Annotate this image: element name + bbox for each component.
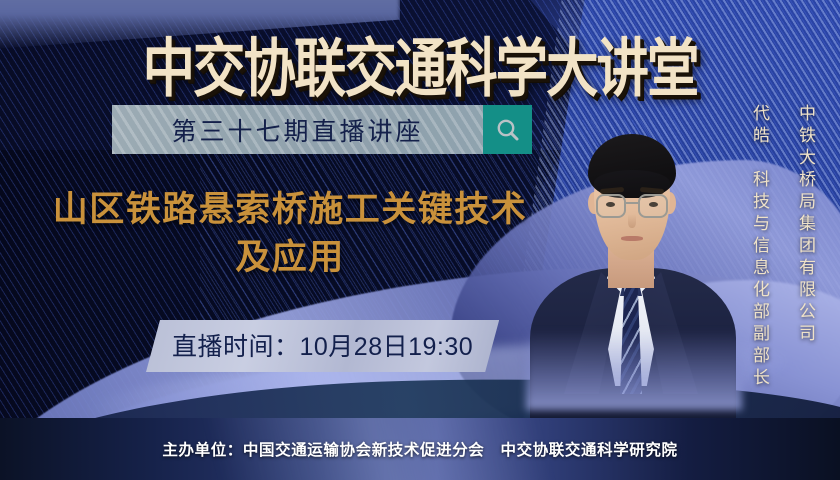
session-band: 第三十七期直播讲座 xyxy=(112,105,532,154)
headline-line-2: 及应用 xyxy=(20,234,560,282)
portrait-glasses-bridge xyxy=(626,202,638,204)
speaker-company: 中铁大桥局集团有限公司 xyxy=(793,104,818,346)
portrait-glasses-left xyxy=(596,194,626,218)
speaker-name-title: 代皓 科技与信息化部副部长 xyxy=(747,104,772,390)
main-title: 中交协联交通科学大讲堂 xyxy=(13,16,828,109)
portrait-bottom-fade xyxy=(526,330,742,410)
session-band-body: 第三十七期直播讲座 xyxy=(112,105,483,154)
footer-organizers: 主办单位：中国交通运输协会新技术促进分会 中交协联交通科学研究院 xyxy=(162,438,677,460)
search-icon[interactable] xyxy=(483,105,532,154)
lecture-headline: 山区铁路悬索桥施工关键技术 及应用 xyxy=(20,186,560,283)
footer-bar: 主办单位：中国交通运输协会新技术促进分会 中交协联交通科学研究院 xyxy=(0,418,840,480)
headline-line-1: 山区铁路悬索桥施工关键技术 xyxy=(53,190,528,229)
portrait-glasses-right xyxy=(638,194,668,218)
webinar-poster: 中交协联交通科学大讲堂 第三十七期直播讲座 山区铁路悬索桥施工关键技术 及应用 … xyxy=(0,0,840,480)
speaker-portrait xyxy=(536,96,726,396)
session-band-label: 第三十七期直播讲座 xyxy=(171,112,423,148)
portrait-mouth xyxy=(621,236,643,241)
broadcast-time-badge: 直播时间：10月28日19:30 xyxy=(146,320,499,372)
portrait-nose xyxy=(628,214,636,228)
